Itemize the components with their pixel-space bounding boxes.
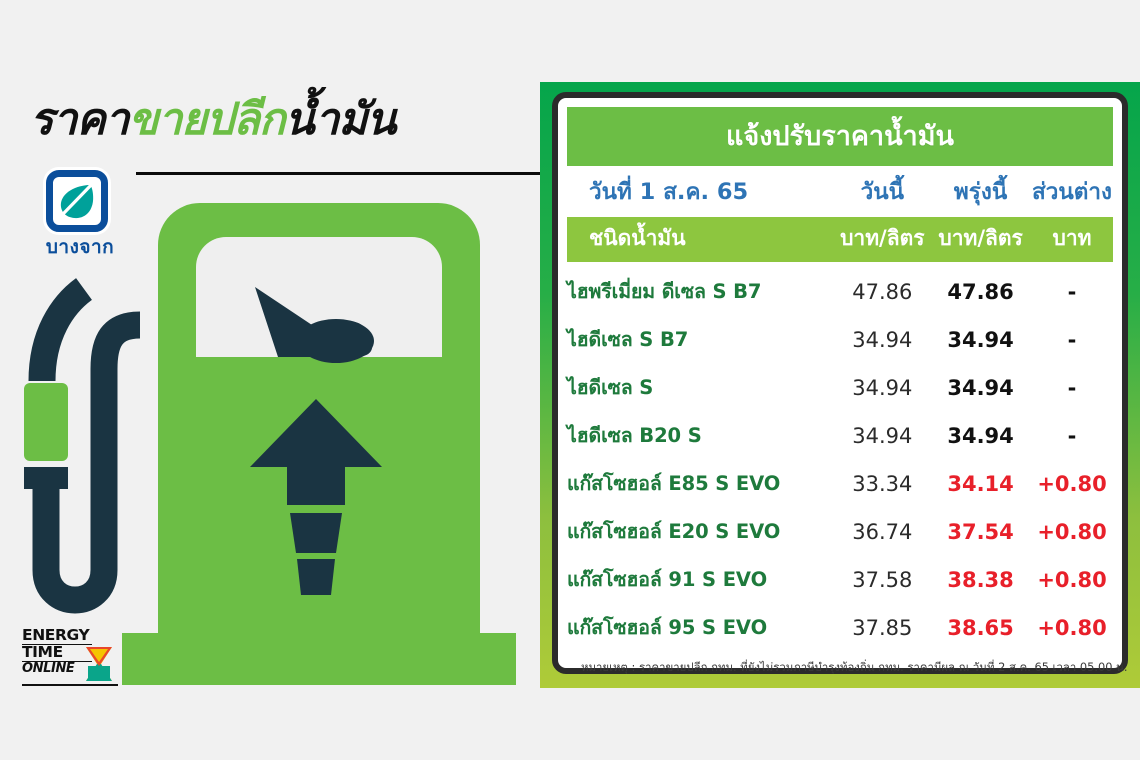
- table-row: ไฮพรีเมี่ยม ดีเซล S B747.8647.86-: [567, 262, 1113, 316]
- price-tomorrow-cell: 47.86: [930, 262, 1031, 316]
- fuel-type-cell: ไฮพรีเมี่ยม ดีเซล S B7: [567, 262, 835, 316]
- price-difference-cell: +0.80: [1031, 460, 1113, 508]
- logo-line-online: ONLINE: [22, 662, 92, 675]
- page-title-part-3: น้ำมัน: [285, 94, 396, 145]
- fuel-price-board: แจ้งปรับราคาน้ำมัน วันที่ 1 ส.ค. 65 วันน…: [540, 82, 1140, 688]
- hourglass-icon: [84, 645, 114, 683]
- table-row: แก๊สโซฮอล์ E85 S EVO33.3434.14+0.80: [567, 460, 1113, 508]
- logo-line-time: TIME: [22, 645, 92, 662]
- price-difference-cell: -: [1031, 262, 1113, 316]
- col-header-difference: ส่วนต่าง: [1031, 166, 1113, 217]
- col-header-tomorrow: พรุ่งนี้: [930, 166, 1031, 217]
- price-today-cell: 34.94: [835, 364, 931, 412]
- price-tomorrow-cell: 37.54: [930, 508, 1031, 556]
- page-title-part-1: ราคา: [30, 94, 128, 145]
- price-today-cell: 47.86: [835, 262, 931, 316]
- table-row: แก๊สโซฮอล์ 91 S EVO37.5838.38+0.80: [567, 556, 1113, 604]
- table-header-unit-row: ชนิดน้ำมัน บาท/ลิตร บาท/ลิตร บาท: [567, 217, 1113, 262]
- gas-pump-illustration: [0, 185, 540, 700]
- price-today-cell: 36.74: [835, 508, 931, 556]
- price-today-cell: 34.94: [835, 412, 931, 460]
- table-row: แก๊สโซฮอล์ 95 S EVO37.8538.65+0.80: [567, 604, 1113, 652]
- energy-time-online-wordmark: ENERGY TIME ONLINE: [22, 628, 92, 675]
- title-divider: [136, 172, 540, 175]
- board-title: แจ้งปรับราคาน้ำมัน: [567, 107, 1113, 166]
- price-today-cell: 33.34: [835, 460, 931, 508]
- table-row: แก๊สโซฮอล์ E20 S EVO36.7437.54+0.80: [567, 508, 1113, 556]
- col-unit-today: บาท/ลิตร: [835, 217, 931, 262]
- board-inner-card: แจ้งปรับราคาน้ำมัน วันที่ 1 ส.ค. 65 วันน…: [552, 92, 1128, 674]
- price-today-cell: 34.94: [835, 316, 931, 364]
- table-row: ไฮดีเซล B20 S34.9434.94-: [567, 412, 1113, 460]
- fuel-type-cell: แก๊สโซฮอล์ E85 S EVO: [567, 460, 835, 508]
- fuel-type-cell: ไฮดีเซล S: [567, 364, 835, 412]
- table-row: ไฮดีเซล S34.9434.94-: [567, 364, 1113, 412]
- board-footnote: หมายเหตุ : ราคาขายปลีก กทม. ที่ยังไม่รวม…: [567, 652, 1113, 686]
- price-tomorrow-cell: 34.14: [930, 460, 1031, 508]
- col-header-date: วันที่ 1 ส.ค. 65: [567, 166, 835, 217]
- price-difference-cell: -: [1031, 364, 1113, 412]
- price-tomorrow-cell: 34.94: [930, 364, 1031, 412]
- nozzle-grip-icon: [24, 383, 68, 461]
- col-unit-difference: บาท: [1031, 217, 1113, 262]
- left-illustration-panel: ราคาขายปลีกน้ำมัน บางจาก: [0, 0, 540, 760]
- fuel-price-table: วันที่ 1 ส.ค. 65 วันนี้ พรุ่งนี้ ส่วนต่า…: [567, 166, 1113, 652]
- price-difference-cell: +0.80: [1031, 604, 1113, 652]
- logo-underline: [22, 684, 118, 686]
- price-difference-cell: -: [1031, 412, 1113, 460]
- col-header-today: วันนี้: [835, 166, 931, 217]
- page-title-part-2: ขายปลีก: [128, 94, 284, 145]
- price-difference-cell: +0.80: [1031, 508, 1113, 556]
- fuel-type-cell: แก๊สโซฮอล์ 91 S EVO: [567, 556, 835, 604]
- energy-time-online-logo: ENERGY TIME ONLINE: [22, 628, 126, 690]
- fuel-type-cell: แก๊สโซฮอล์ E20 S EVO: [567, 508, 835, 556]
- price-tomorrow-cell: 34.94: [930, 316, 1031, 364]
- col-unit-type: ชนิดน้ำมัน: [567, 217, 835, 262]
- price-difference-cell: +0.80: [1031, 556, 1113, 604]
- price-today-cell: 37.85: [835, 604, 931, 652]
- col-unit-tomorrow: บาท/ลิตร: [930, 217, 1031, 262]
- table-row: ไฮดีเซล S B734.9434.94-: [567, 316, 1113, 364]
- fuel-type-cell: ไฮดีเซล S B7: [567, 316, 835, 364]
- fuel-price-rows: ไฮพรีเมี่ยม ดีเซล S B747.8647.86-ไฮดีเซล…: [567, 262, 1113, 652]
- price-tomorrow-cell: 34.94: [930, 412, 1031, 460]
- price-tomorrow-cell: 38.38: [930, 556, 1031, 604]
- page-title: ราคาขายปลีกน้ำมัน: [30, 98, 395, 142]
- fuel-type-cell: ไฮดีเซล B20 S: [567, 412, 835, 460]
- price-tomorrow-cell: 38.65: [930, 604, 1031, 652]
- table-header-date-row: วันที่ 1 ส.ค. 65 วันนี้ พรุ่งนี้ ส่วนต่า…: [567, 166, 1113, 217]
- fuel-type-cell: แก๊สโซฮอล์ 95 S EVO: [567, 604, 835, 652]
- price-today-cell: 37.58: [835, 556, 931, 604]
- price-difference-cell: -: [1031, 316, 1113, 364]
